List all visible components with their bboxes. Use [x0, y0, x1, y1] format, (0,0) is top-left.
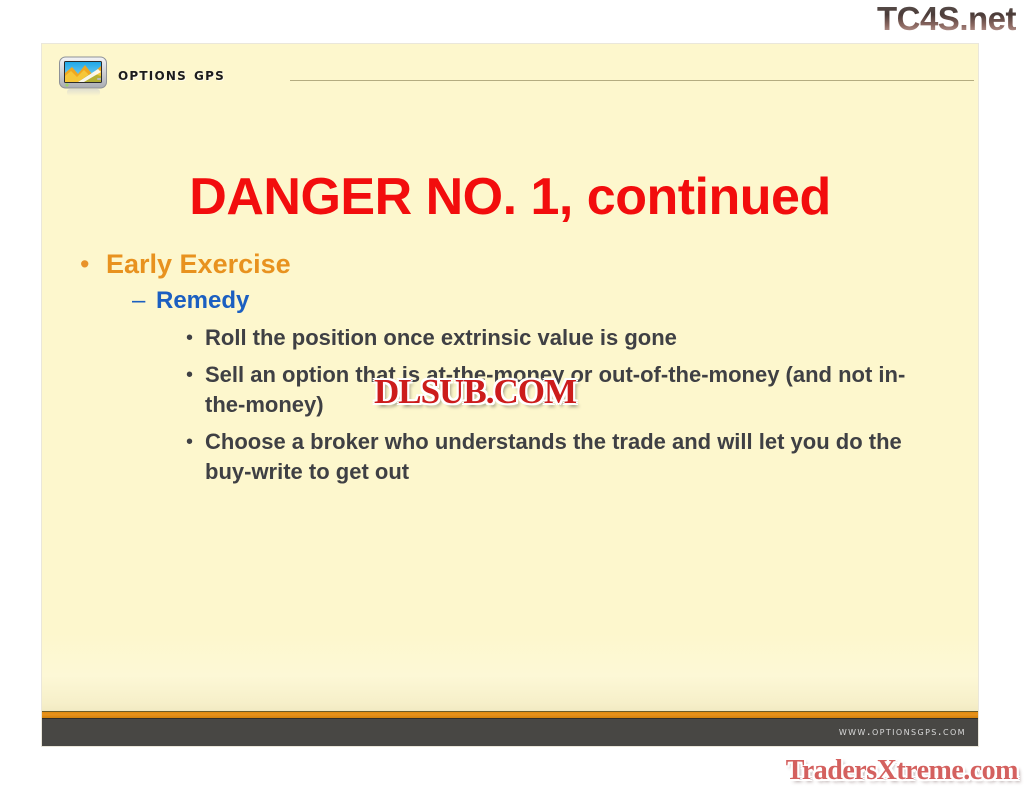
tradersxtreme-watermark: TradersXtreme.com — [786, 757, 1018, 785]
bullet-level1-label: Early Exercise — [106, 247, 958, 281]
footer-accent-bar — [42, 711, 978, 718]
bullet-marker-dash: – — [132, 285, 156, 317]
slide-title: DANGER NO. 1, continued — [42, 170, 978, 225]
bullet-level3-text: Choose a broker who understands the trad… — [205, 427, 940, 487]
bullet-level2: – Remedy — [132, 285, 958, 317]
bullet-marker-dot: • — [186, 427, 205, 457]
header-divider — [290, 80, 974, 81]
bullet-marker-dot: • — [80, 247, 106, 281]
slide-header: Options GPS — [42, 44, 978, 106]
tc4s-watermark: TC4S.net — [877, 2, 1016, 35]
bullet-level2-label: Remedy — [156, 285, 958, 317]
gps-device-icon — [58, 56, 112, 98]
bullet-level1: • Early Exercise — [80, 247, 958, 281]
brand-wordmark: Options GPS — [118, 67, 225, 84]
footer-bar: www.OptionsGPS.com — [42, 718, 978, 746]
list-item: • Choose a broker who understands the tr… — [186, 427, 958, 487]
bullet-marker-dot: • — [186, 360, 205, 390]
list-item: • Roll the position once extrinsic value… — [186, 323, 958, 353]
footer-url-label: www.OptionsGPS.com — [839, 725, 966, 737]
dlsub-watermark: DLSUB.COM — [374, 374, 576, 409]
slide-body: • Early Exercise – Remedy • Roll the pos… — [80, 247, 958, 494]
bullet-level3-text: Roll the position once extrinsic value i… — [205, 323, 940, 353]
bullet-marker-dot: • — [186, 323, 205, 353]
